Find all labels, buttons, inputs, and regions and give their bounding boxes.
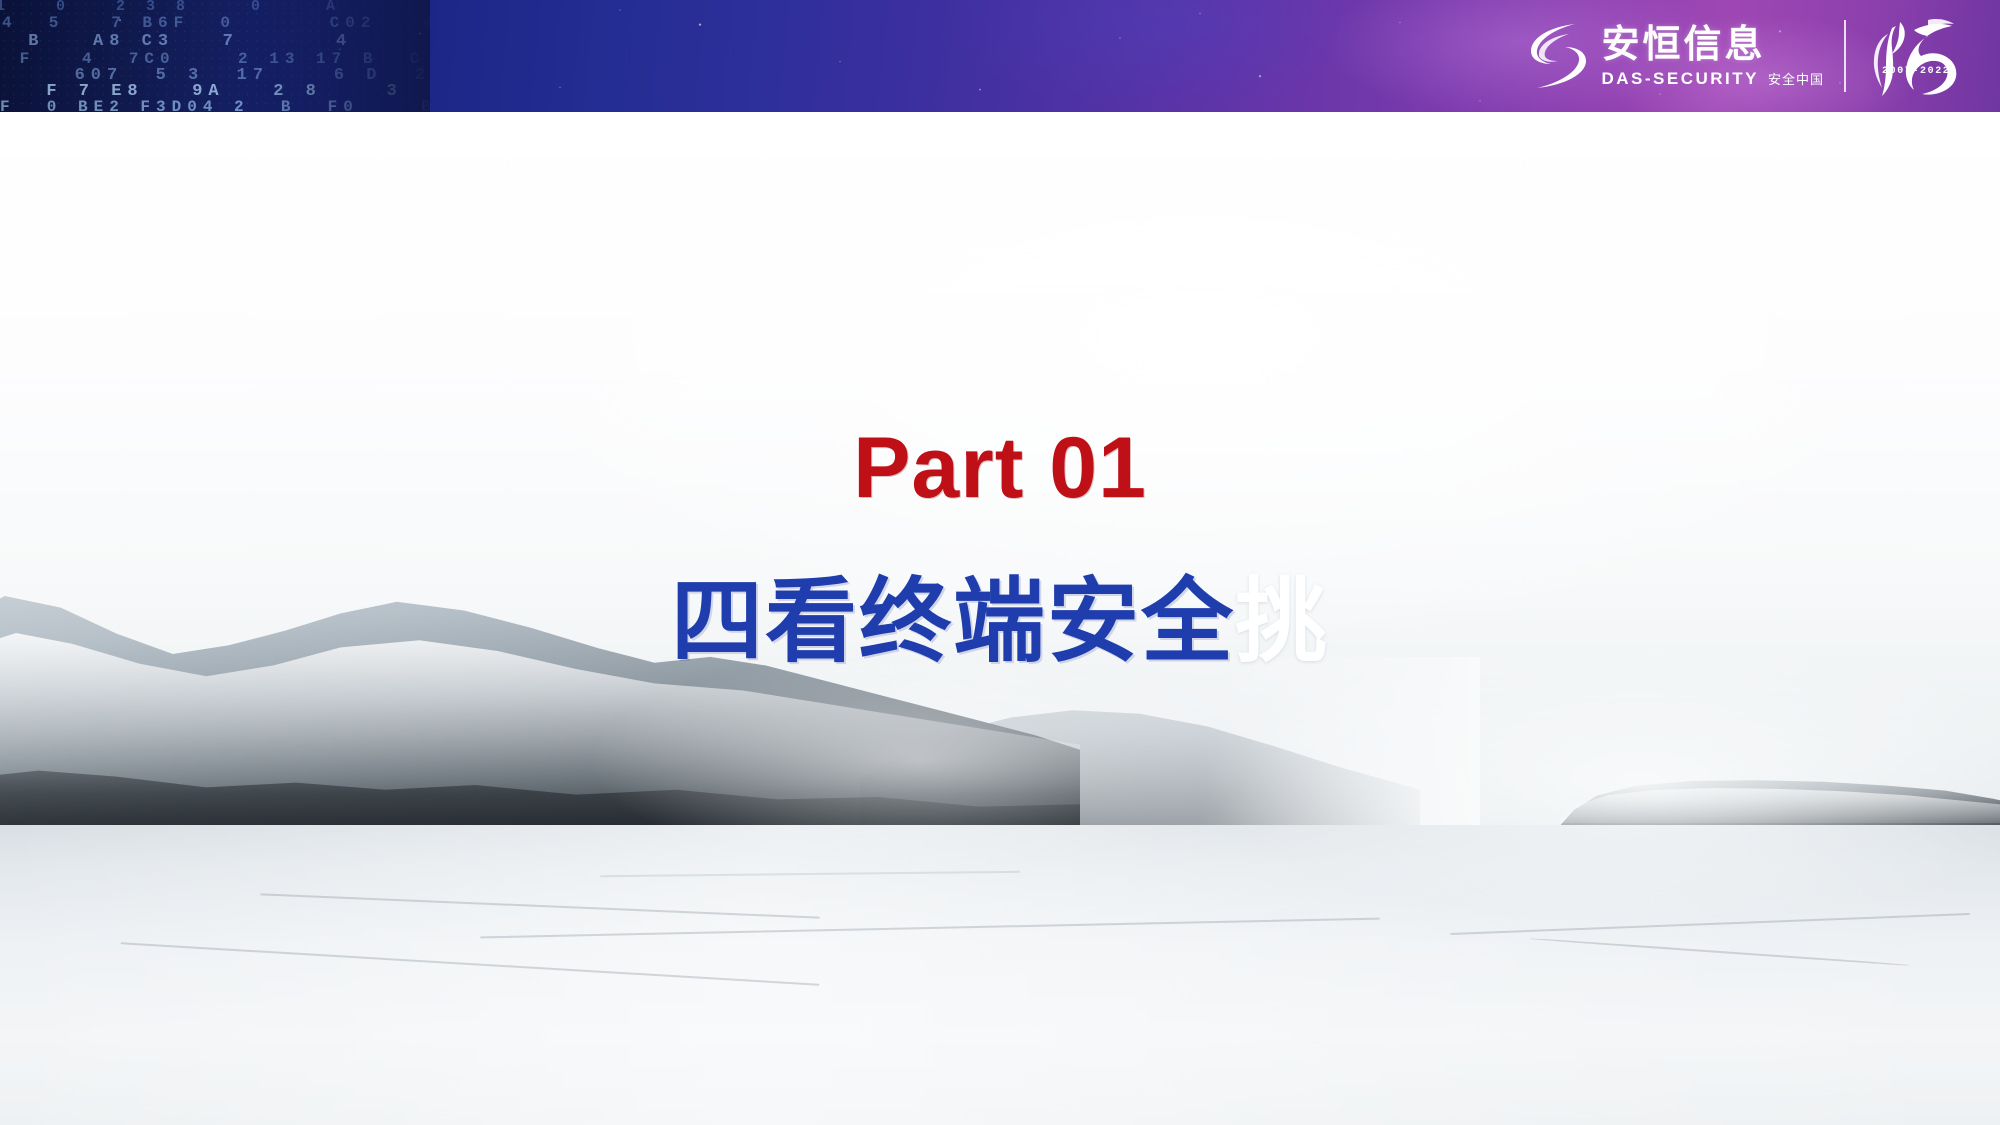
section-heading-secondary: 挑 bbox=[1235, 568, 1329, 675]
section-heading-primary: 四看终端安全 bbox=[671, 568, 1235, 675]
part-label: Part 01 bbox=[0, 425, 2000, 511]
section-heading: 四看终端安全挑 bbox=[0, 570, 2000, 673]
slide-root: 1 0 2 3 8 0 A 4 5 7 B6F 0 C02 4 B A8 C3 … bbox=[0, 0, 2000, 1125]
title-block: Part 01 四看终端安全挑 bbox=[0, 0, 2000, 1125]
